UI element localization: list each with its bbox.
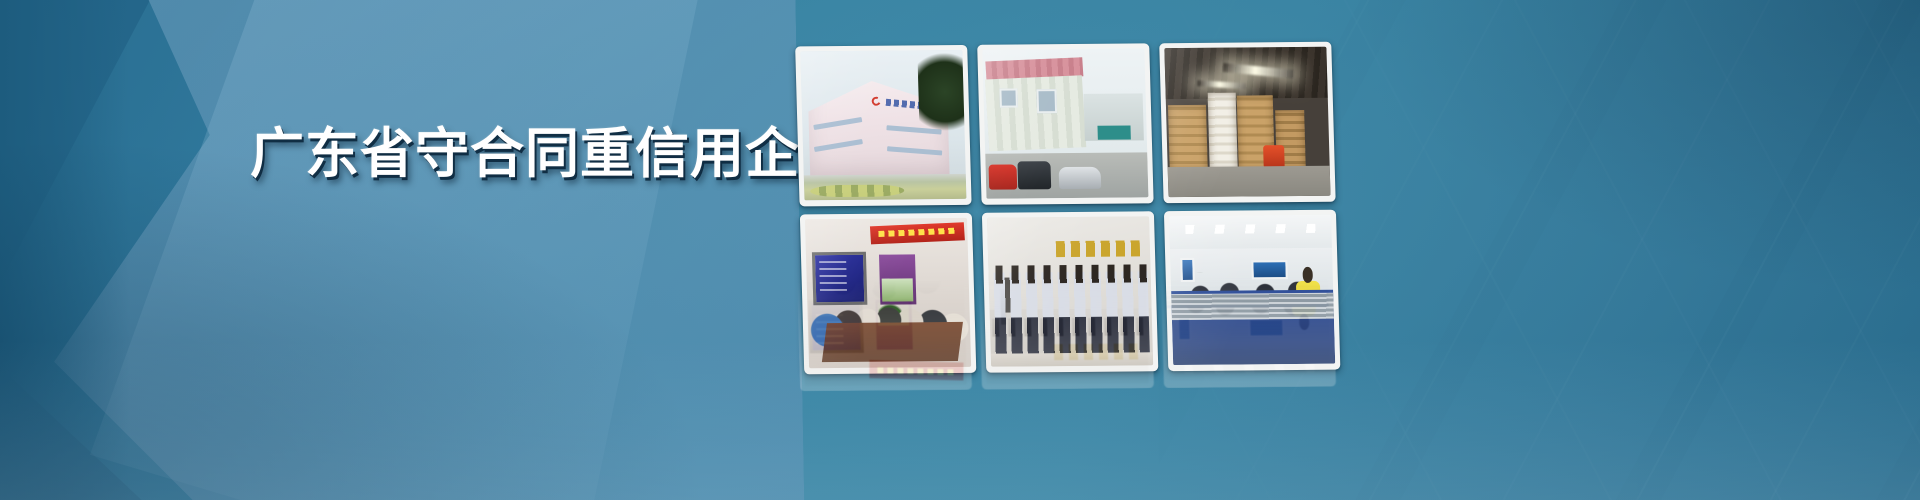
collage-photo-office-workspace: [1164, 210, 1340, 371]
collage-photo-factory-exterior: [795, 45, 971, 206]
collage-photo-workshop-exterior: [977, 43, 1153, 204]
photo-collage: [795, 42, 1345, 392]
wall-sign-text: [1056, 240, 1141, 257]
banner-headline: 广东省守合同重信用企业: [250, 126, 855, 183]
forklift-shape: [1263, 146, 1285, 169]
company-honor-banner: 广东省守合同重信用企业: [0, 0, 1920, 500]
collage-photo-warehouse-stock: [1159, 42, 1335, 203]
collage-photo-meeting-training: [800, 213, 976, 374]
collage-photo-staff-team: [982, 211, 1158, 372]
